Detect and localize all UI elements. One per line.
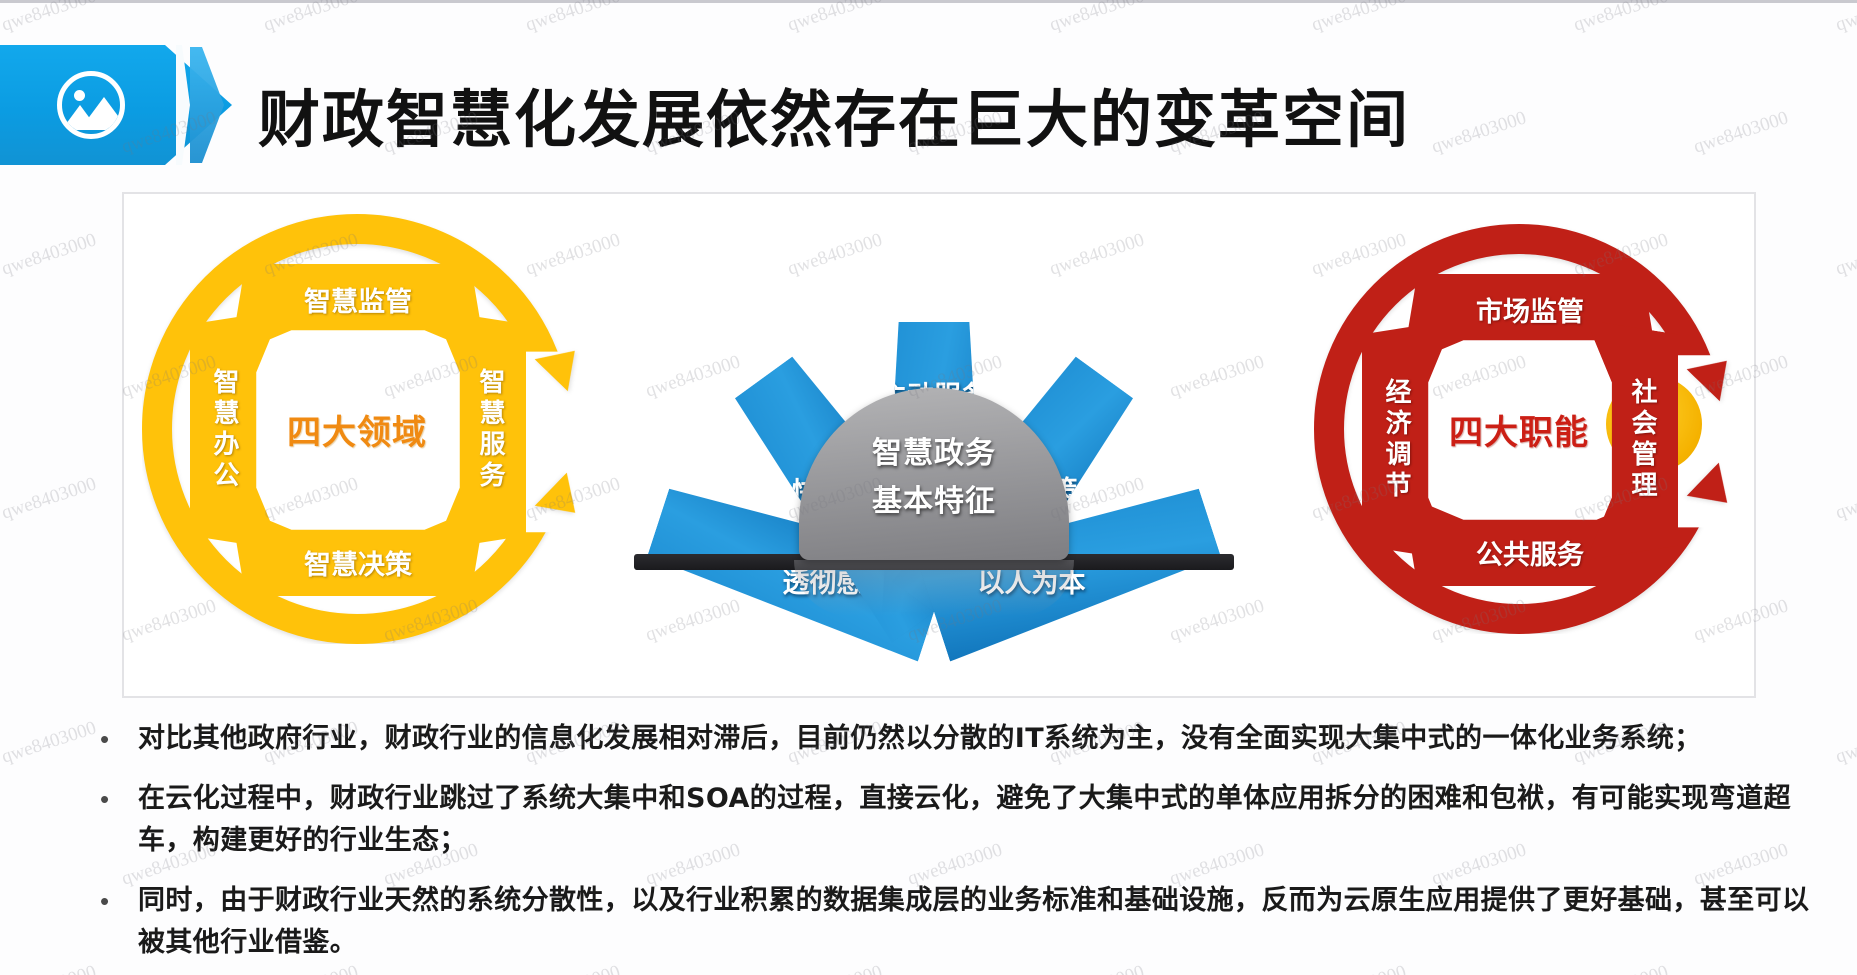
fan-hub-line2: 基本特征 [872, 476, 996, 520]
watermark-text: qwe8403000 [1309, 0, 1409, 37]
watermark-text: qwe8403000 [1047, 0, 1147, 37]
watermark-text: qwe8403000 [1833, 229, 1857, 280]
watermark-text: qwe8403000 [523, 0, 623, 37]
left-segment-left-label: 智慧办公 [212, 368, 238, 492]
fan-hub: 智慧政务 基本特征 [799, 388, 1069, 560]
right-ring-arrow-bottom [1687, 463, 1743, 520]
watermark-text: qwe8403000 [0, 0, 99, 37]
banner-notch [176, 45, 190, 165]
right-ring-diagram: 市场监管 社会管理 公共服务 经济调节 四大职能 [1314, 224, 1724, 634]
page-title: 财政智慧化发展依然存在巨大的变革空间 [258, 89, 1410, 151]
picture-icon [57, 71, 125, 139]
watermark-text: qwe8403000 [1833, 0, 1857, 37]
fan-hub-reflection [794, 560, 1074, 616]
bullet-text: 在云化过程中，财政行业跳过了系统大集中和SOA的过程，直接云化，避免了大集中式的… [138, 778, 1836, 862]
list-item: • 对比其他政府行业，财政行业的信息化发展相对滞后，目前仍然以分散的IT系统为主… [96, 718, 1836, 760]
right-ring-core: 四大职能 [1435, 354, 1603, 504]
watermark-text: qwe8403000 [1833, 961, 1857, 975]
picture-icon-base [64, 123, 118, 130]
list-item: • 在云化过程中，财政行业跳过了系统大集中和SOA的过程，直接云化，避免了大集中… [96, 778, 1836, 862]
watermark-text: qwe8403000 [1833, 473, 1857, 524]
right-segment-bottom-label: 公共服务 [1476, 533, 1584, 572]
watermark-text: qwe8403000 [0, 473, 99, 524]
left-ring-arrow-bottom [535, 473, 591, 530]
left-segment-top-label: 智慧监管 [304, 280, 412, 319]
bullet-marker: • [96, 880, 138, 922]
watermark-text: qwe8403000 [1833, 717, 1857, 768]
right-segment-right-label: 社会管理 [1630, 378, 1656, 502]
list-item: • 同时，由于财政行业天然的系统分散性，以及行业积累的数据集成层的业务标准和基础… [96, 880, 1836, 964]
slide-header: 财政智慧化发展依然存在巨大的变革空间 [0, 45, 1760, 165]
right-ring-core-label: 四大职能 [1449, 405, 1589, 454]
bullet-text: 对比其他政府行业，财政行业的信息化发展相对滞后，目前仍然以分散的IT系统为主，没… [138, 718, 1702, 760]
watermark-text: qwe8403000 [0, 229, 99, 280]
watermark-text: qwe8403000 [785, 0, 885, 37]
left-segment-bottom-label: 智慧决策 [304, 543, 412, 582]
slide-canvas: 财政智慧化发展依然存在巨大的变革空间 智慧监管 智慧服务 智慧决策 智慧办公 四… [0, 0, 1857, 975]
diagram-panel: 智慧监管 智慧服务 智慧决策 智慧办公 四大领域 透彻感知 快速反 [122, 192, 1756, 698]
bullet-list: • 对比其他政府行业，财政行业的信息化发展相对滞后，目前仍然以分散的IT系统为主… [96, 718, 1836, 975]
left-ring-diagram: 智慧监管 智慧服务 智慧决策 智慧办公 四大领域 [142, 214, 572, 644]
left-segment-right-label: 智慧服务 [478, 368, 504, 492]
fan-hub-line1: 智慧政务 [872, 428, 996, 472]
right-segment-top-label: 市场监管 [1476, 290, 1584, 329]
bullet-marker: • [96, 718, 138, 760]
center-fan-diagram: 透彻感知 快速反应 主动服务 科学决策 以人为本 智慧政务 [624, 202, 1244, 672]
watermark-text: qwe8403000 [1571, 0, 1671, 37]
right-segment-left-label: 经济调节 [1384, 378, 1410, 502]
bullet-marker: • [96, 778, 138, 820]
banner-arrow-edge [190, 47, 224, 163]
watermark-text: qwe8403000 [0, 961, 99, 975]
top-divider [0, 0, 1857, 3]
bullet-text: 同时，由于财政行业天然的系统分散性，以及行业积累的数据集成层的业务标准和基础设施… [138, 880, 1836, 964]
fan-blades-group: 透彻感知 快速反应 主动服务 科学决策 以人为本 智慧政务 [639, 317, 1229, 612]
left-ring-core-label: 四大领域 [287, 405, 427, 454]
watermark-text: qwe8403000 [261, 0, 361, 37]
watermark-text: qwe8403000 [0, 717, 99, 768]
left-ring-core: 四大领域 [273, 354, 441, 504]
picture-icon-mountain-large [84, 97, 124, 124]
